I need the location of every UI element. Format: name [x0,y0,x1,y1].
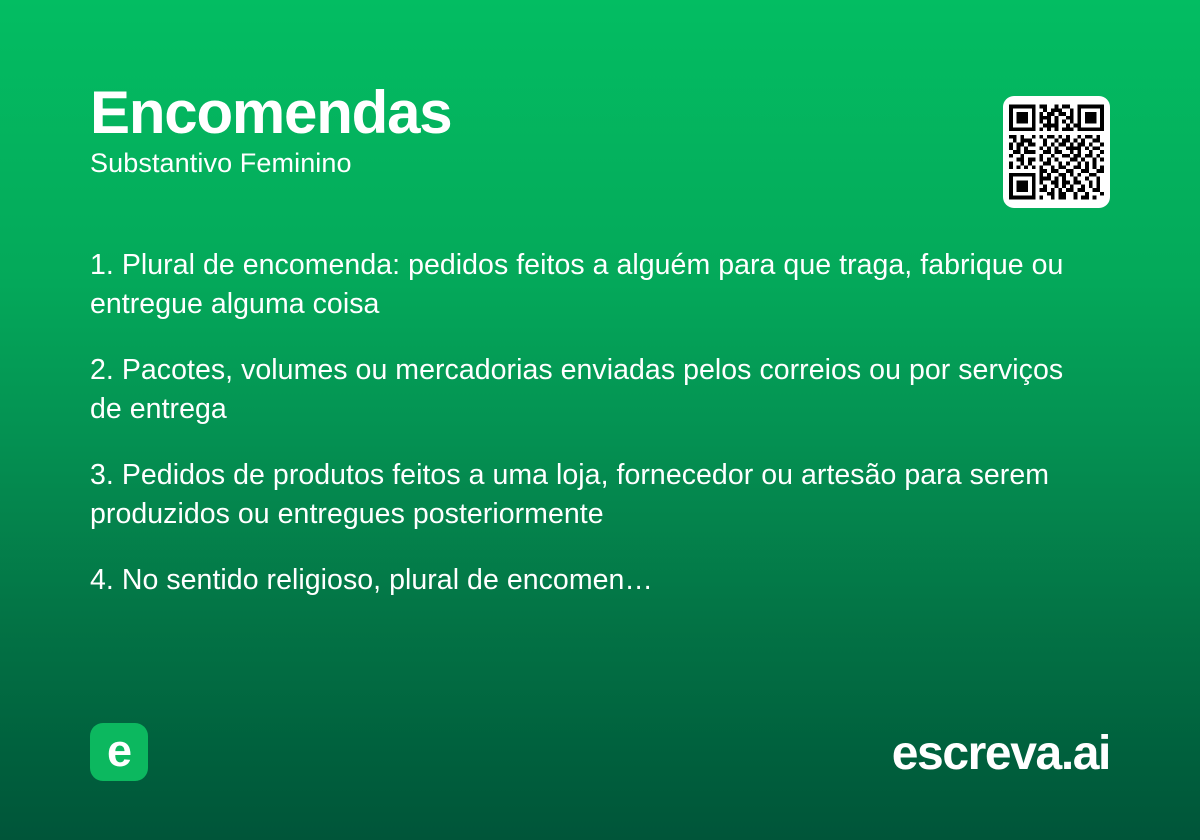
definition-item: 2. Pacotes, volumes ou mercadorias envia… [90,351,1098,429]
definition-item: 4. No sentido religioso, plural de encom… [90,561,1098,600]
logo-letter: e [107,728,131,773]
header: Encomendas Substantivo Feminino [90,82,970,179]
word-class-subtitle: Substantivo Feminino [90,149,970,179]
definition-item: 3. Pedidos de produtos feitos a uma loja… [90,456,1098,534]
page-title: Encomendas [90,82,970,143]
definition-list: 1. Plural de encomenda: pedidos feitos a… [90,246,1098,600]
dictionary-card: Encomendas Substantivo Feminino [0,0,1200,840]
qr-code-icon[interactable] [1003,96,1110,208]
brand-wordmark: escreva.ai [892,725,1110,783]
escreva-logo-icon[interactable]: e [90,723,148,781]
definition-item: 1. Plural de encomenda: pedidos feitos a… [90,246,1098,324]
